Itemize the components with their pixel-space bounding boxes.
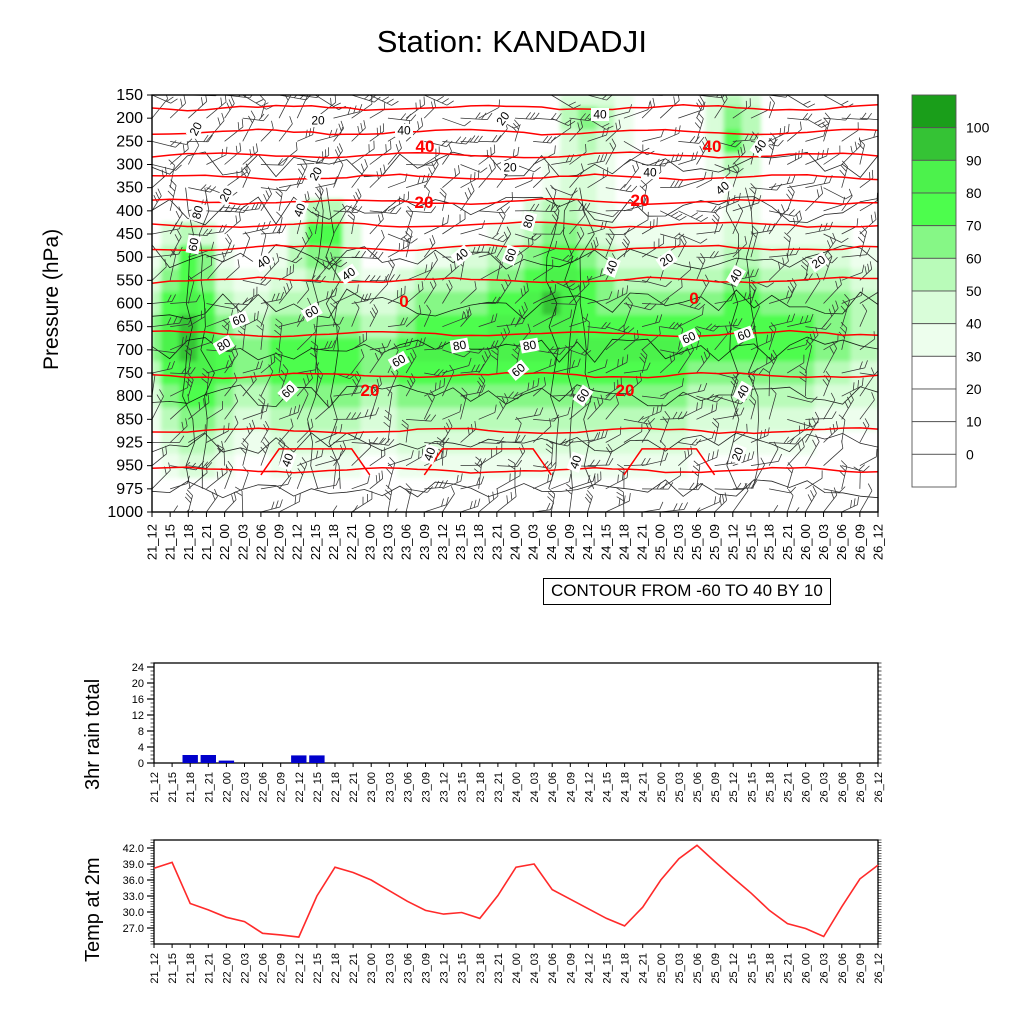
svg-text:1000: 1000 — [107, 504, 143, 521]
svg-text:450: 450 — [116, 226, 143, 243]
svg-text:25_18: 25_18 — [764, 953, 776, 984]
svg-text:24_03: 24_03 — [526, 524, 541, 560]
svg-text:0: 0 — [966, 446, 974, 462]
x-tick-label: 25_09 — [707, 524, 722, 560]
svg-text:26_12: 26_12 — [871, 524, 886, 560]
x-tick-label: 23_21 — [489, 524, 504, 560]
svg-text:22_15: 22_15 — [308, 524, 323, 560]
svg-text:42.0: 42.0 — [123, 843, 144, 855]
svg-text:20: 20 — [631, 191, 650, 210]
svg-text:24_21: 24_21 — [635, 524, 650, 560]
svg-text:24_18: 24_18 — [620, 772, 632, 803]
svg-text:21_15: 21_15 — [167, 953, 179, 984]
svg-text:40: 40 — [703, 137, 722, 156]
svg-text:26_00: 26_00 — [801, 772, 813, 803]
svg-text:26_12: 26_12 — [873, 772, 885, 803]
svg-text:22_18: 22_18 — [326, 524, 341, 560]
x-tick-label: 26_12 — [871, 524, 886, 560]
svg-text:23_12: 23_12 — [439, 953, 451, 984]
svg-text:26_00: 26_00 — [801, 953, 813, 984]
svg-text:23_12: 23_12 — [439, 772, 451, 803]
svg-text:23_18: 23_18 — [475, 953, 487, 984]
x-tick-label: 21_12 — [145, 524, 160, 560]
svg-text:25_06: 25_06 — [692, 772, 704, 803]
svg-text:23_15: 23_15 — [457, 772, 469, 803]
svg-text:22_06: 22_06 — [258, 953, 270, 984]
svg-text:950: 950 — [116, 458, 143, 475]
svg-text:20: 20 — [503, 161, 517, 175]
svg-text:21_12: 21_12 — [149, 772, 161, 803]
svg-text:23_12: 23_12 — [435, 524, 450, 560]
x-tick-label: 24_12 — [580, 524, 595, 560]
svg-text:24_09: 24_09 — [565, 772, 577, 803]
rain-bar — [201, 755, 216, 763]
svg-text:27.0: 27.0 — [123, 923, 144, 935]
x-tick-label: 24_06 — [544, 524, 559, 560]
rain-panel-ylabel: 3hr rain total — [82, 679, 105, 790]
svg-text:20: 20 — [415, 193, 434, 212]
x-tick-label: 26_09 — [852, 524, 867, 560]
rain-bar — [291, 755, 306, 763]
x-tick-label: 22_09 — [272, 524, 287, 560]
svg-text:40: 40 — [593, 108, 607, 122]
svg-text:30.0: 30.0 — [123, 907, 144, 919]
cross-section-chart: 4040202000202020202040404020202040404080… — [100, 80, 1000, 620]
svg-text:24: 24 — [132, 662, 144, 674]
svg-text:60: 60 — [185, 236, 201, 252]
svg-text:23_09: 23_09 — [421, 953, 433, 984]
x-tick-label: 25_15 — [743, 524, 758, 560]
svg-text:150: 150 — [116, 87, 143, 104]
rain-bar — [183, 755, 198, 763]
svg-text:22_15: 22_15 — [312, 772, 324, 803]
svg-text:22_09: 22_09 — [276, 953, 288, 984]
svg-text:25_18: 25_18 — [762, 524, 777, 560]
svg-text:0: 0 — [399, 292, 408, 311]
svg-text:23_06: 23_06 — [402, 772, 414, 803]
svg-text:33.0: 33.0 — [123, 891, 144, 903]
x-tick-label: 22_21 — [344, 524, 359, 560]
svg-text:22_03: 22_03 — [240, 772, 252, 803]
svg-text:24_15: 24_15 — [602, 953, 614, 984]
x-tick-label: 23_18 — [471, 524, 486, 560]
svg-text:39.0: 39.0 — [123, 859, 144, 871]
x-tick-label: 24_09 — [562, 524, 577, 560]
svg-text:23_06: 23_06 — [399, 524, 414, 560]
svg-text:26_09: 26_09 — [852, 524, 867, 560]
x-tick-label: 24_00 — [508, 524, 523, 560]
svg-text:21_18: 21_18 — [181, 524, 196, 560]
svg-text:24_06: 24_06 — [547, 772, 559, 803]
svg-text:23_21: 23_21 — [493, 772, 505, 803]
svg-text:24_09: 24_09 — [565, 953, 577, 984]
svg-text:750: 750 — [116, 365, 143, 382]
x-tick-label: 26_00 — [798, 524, 813, 560]
svg-text:80: 80 — [522, 337, 538, 353]
svg-text:600: 600 — [116, 296, 143, 313]
x-tick-label: 22_06 — [253, 524, 268, 560]
svg-text:22_06: 22_06 — [253, 524, 268, 560]
svg-text:24_15: 24_15 — [598, 524, 613, 560]
svg-text:40: 40 — [643, 166, 657, 180]
svg-text:925: 925 — [116, 435, 143, 452]
x-tick-label: 23_15 — [453, 524, 468, 560]
svg-text:26_06: 26_06 — [837, 772, 849, 803]
svg-text:26_12: 26_12 — [873, 953, 885, 984]
svg-text:21_21: 21_21 — [199, 524, 214, 560]
x-tick-label: 25_21 — [780, 524, 795, 560]
svg-text:350: 350 — [116, 180, 143, 197]
x-tick-label: 21_15 — [163, 524, 178, 560]
svg-text:23_06: 23_06 — [402, 953, 414, 984]
svg-text:24_06: 24_06 — [544, 524, 559, 560]
svg-text:23_21: 23_21 — [493, 953, 505, 984]
svg-text:20: 20 — [132, 678, 144, 690]
svg-text:300: 300 — [116, 157, 143, 174]
svg-text:25_21: 25_21 — [780, 524, 795, 560]
contour-caption: CONTOUR FROM -60 TO 40 BY 10 — [543, 578, 831, 605]
x-tick-label: 21_18 — [181, 524, 196, 560]
svg-text:21_18: 21_18 — [185, 772, 197, 803]
svg-text:975: 975 — [116, 481, 143, 498]
svg-text:25_21: 25_21 — [783, 772, 795, 803]
svg-text:25_12: 25_12 — [728, 953, 740, 984]
x-tick-label: 25_18 — [762, 524, 777, 560]
rain-bar — [219, 761, 234, 763]
svg-text:22_15: 22_15 — [312, 953, 324, 984]
svg-text:25_21: 25_21 — [783, 953, 795, 984]
svg-text:25_15: 25_15 — [746, 772, 758, 803]
x-tick-label: 24_21 — [635, 524, 650, 560]
rh-shading — [152, 95, 879, 478]
svg-text:23_00: 23_00 — [362, 524, 377, 560]
svg-text:24_21: 24_21 — [638, 953, 650, 984]
svg-text:22_00: 22_00 — [217, 524, 232, 560]
svg-text:850: 850 — [116, 411, 143, 428]
svg-text:26_00: 26_00 — [798, 524, 813, 560]
svg-text:21_12: 21_12 — [145, 524, 160, 560]
svg-text:24_18: 24_18 — [620, 953, 632, 984]
svg-text:23_09: 23_09 — [417, 524, 432, 560]
svg-text:21_21: 21_21 — [203, 953, 215, 984]
svg-text:30: 30 — [966, 348, 982, 364]
svg-text:23_03: 23_03 — [384, 772, 396, 803]
temp-panel-ylabel: Temp at 2m — [82, 858, 105, 962]
svg-text:500: 500 — [116, 249, 143, 266]
svg-text:24_00: 24_00 — [511, 772, 523, 803]
svg-text:23_00: 23_00 — [366, 953, 378, 984]
svg-text:24_18: 24_18 — [616, 524, 631, 560]
x-tick-label: 25_00 — [653, 524, 668, 560]
svg-text:100: 100 — [966, 120, 990, 136]
svg-text:21_15: 21_15 — [163, 524, 178, 560]
svg-text:90: 90 — [966, 152, 982, 168]
svg-text:25_06: 25_06 — [689, 524, 704, 560]
svg-text:22_12: 22_12 — [294, 772, 306, 803]
svg-text:250: 250 — [116, 133, 143, 150]
svg-text:22_21: 22_21 — [348, 772, 360, 803]
svg-text:26_09: 26_09 — [855, 953, 867, 984]
x-tick-label: 26_06 — [834, 524, 849, 560]
svg-text:40: 40 — [416, 137, 435, 156]
svg-text:550: 550 — [116, 272, 143, 289]
svg-text:22_12: 22_12 — [294, 953, 306, 984]
x-tick-label: 24_03 — [526, 524, 541, 560]
svg-text:23_09: 23_09 — [421, 772, 433, 803]
svg-text:12: 12 — [132, 710, 144, 722]
x-tick-label: 25_06 — [689, 524, 704, 560]
svg-text:26_06: 26_06 — [834, 524, 849, 560]
svg-text:700: 700 — [116, 342, 143, 359]
main-panel-ylabel: Pressure (hPa) — [40, 229, 64, 370]
svg-text:21_18: 21_18 — [185, 953, 197, 984]
svg-text:24_21: 24_21 — [638, 772, 650, 803]
svg-text:8: 8 — [138, 726, 144, 738]
svg-text:800: 800 — [116, 388, 143, 405]
svg-text:24_03: 24_03 — [529, 953, 541, 984]
svg-text:25_03: 25_03 — [674, 772, 686, 803]
x-tick-label: 22_00 — [217, 524, 232, 560]
svg-text:22_12: 22_12 — [290, 524, 305, 560]
svg-text:36.0: 36.0 — [123, 875, 144, 887]
temperature-chart: 27.030.033.036.039.042.021_1221_1521_182… — [108, 832, 888, 1022]
x-tick-label: 22_18 — [326, 524, 341, 560]
x-tick-label: 23_00 — [362, 524, 377, 560]
svg-text:25_09: 25_09 — [710, 772, 722, 803]
svg-text:25_12: 25_12 — [728, 772, 740, 803]
x-tick-label: 24_15 — [598, 524, 613, 560]
svg-text:23_18: 23_18 — [475, 772, 487, 803]
svg-text:40: 40 — [397, 124, 411, 138]
svg-text:4: 4 — [138, 742, 144, 754]
svg-text:22_09: 22_09 — [272, 524, 287, 560]
svg-text:25_09: 25_09 — [710, 953, 722, 984]
svg-text:24_12: 24_12 — [583, 953, 595, 984]
svg-text:25_03: 25_03 — [671, 524, 686, 560]
svg-text:22_18: 22_18 — [330, 772, 342, 803]
svg-text:400: 400 — [116, 203, 143, 220]
x-tick-label: 25_12 — [725, 524, 740, 560]
svg-text:26_09: 26_09 — [855, 772, 867, 803]
x-tick-label: 22_12 — [290, 524, 305, 560]
svg-text:21_15: 21_15 — [167, 772, 179, 803]
svg-text:200: 200 — [116, 110, 143, 127]
svg-text:24_03: 24_03 — [529, 772, 541, 803]
svg-text:24_12: 24_12 — [583, 772, 595, 803]
svg-text:24_00: 24_00 — [508, 524, 523, 560]
rain-chart: 0481216202421_1221_1521_1821_2122_0022_0… — [108, 655, 888, 815]
x-tick-label: 24_18 — [616, 524, 631, 560]
svg-text:25_06: 25_06 — [692, 953, 704, 984]
svg-text:22_00: 22_00 — [221, 772, 233, 803]
svg-text:80: 80 — [452, 337, 468, 353]
svg-text:26_03: 26_03 — [819, 953, 831, 984]
svg-text:20: 20 — [311, 114, 325, 128]
svg-text:22_00: 22_00 — [221, 953, 233, 984]
svg-text:650: 650 — [116, 319, 143, 336]
svg-text:21_21: 21_21 — [203, 772, 215, 803]
svg-text:24_12: 24_12 — [580, 524, 595, 560]
svg-text:24_15: 24_15 — [602, 772, 614, 803]
svg-text:23_18: 23_18 — [471, 524, 486, 560]
x-tick-label: 23_06 — [399, 524, 414, 560]
svg-text:25_00: 25_00 — [656, 953, 668, 984]
x-tick-label: 22_15 — [308, 524, 323, 560]
svg-text:23_15: 23_15 — [453, 524, 468, 560]
svg-text:20: 20 — [361, 381, 380, 400]
svg-text:0: 0 — [138, 758, 144, 770]
svg-text:22_21: 22_21 — [344, 524, 359, 560]
svg-text:25_09: 25_09 — [707, 524, 722, 560]
svg-text:22_06: 22_06 — [258, 772, 270, 803]
svg-text:22_18: 22_18 — [330, 953, 342, 984]
svg-text:23_03: 23_03 — [384, 953, 396, 984]
svg-text:25_15: 25_15 — [743, 524, 758, 560]
svg-text:22_21: 22_21 — [348, 953, 360, 984]
svg-text:26_03: 26_03 — [816, 524, 831, 560]
svg-text:80: 80 — [966, 185, 982, 201]
svg-text:23_03: 23_03 — [380, 524, 395, 560]
svg-text:26_06: 26_06 — [837, 953, 849, 984]
svg-text:10: 10 — [966, 414, 982, 430]
svg-text:23_21: 23_21 — [489, 524, 504, 560]
svg-text:25_03: 25_03 — [674, 953, 686, 984]
svg-text:24_09: 24_09 — [562, 524, 577, 560]
svg-text:70: 70 — [966, 218, 982, 234]
svg-text:24_00: 24_00 — [511, 953, 523, 984]
svg-text:22_09: 22_09 — [276, 772, 288, 803]
svg-text:40: 40 — [966, 316, 982, 332]
svg-text:25_00: 25_00 — [656, 772, 668, 803]
svg-text:16: 16 — [132, 694, 144, 706]
svg-text:25_12: 25_12 — [725, 524, 740, 560]
page-title: Station: KANDADJI — [0, 24, 1024, 60]
x-tick-label: 23_03 — [380, 524, 395, 560]
svg-text:50: 50 — [966, 283, 982, 299]
svg-text:20: 20 — [493, 109, 512, 128]
x-tick-label: 22_03 — [235, 524, 250, 560]
svg-text:20: 20 — [966, 381, 982, 397]
x-tick-label: 21_21 — [199, 524, 214, 560]
svg-text:60: 60 — [966, 250, 982, 266]
svg-text:25_15: 25_15 — [746, 953, 758, 984]
x-tick-label: 26_03 — [816, 524, 831, 560]
svg-text:22_03: 22_03 — [240, 953, 252, 984]
rain-bar — [309, 755, 324, 763]
svg-text:24_06: 24_06 — [547, 953, 559, 984]
svg-text:0: 0 — [689, 289, 698, 308]
svg-text:20: 20 — [616, 381, 635, 400]
svg-text:25_18: 25_18 — [764, 772, 776, 803]
x-tick-label: 23_09 — [417, 524, 432, 560]
svg-text:21_12: 21_12 — [149, 953, 161, 984]
colorbar: 1009080706050403020100 — [912, 95, 990, 487]
svg-text:23_15: 23_15 — [457, 953, 469, 984]
svg-text:26_03: 26_03 — [819, 772, 831, 803]
x-tick-label: 25_03 — [671, 524, 686, 560]
x-tick-label: 23_12 — [435, 524, 450, 560]
svg-text:22_03: 22_03 — [235, 524, 250, 560]
svg-text:25_00: 25_00 — [653, 524, 668, 560]
svg-text:23_00: 23_00 — [366, 772, 378, 803]
